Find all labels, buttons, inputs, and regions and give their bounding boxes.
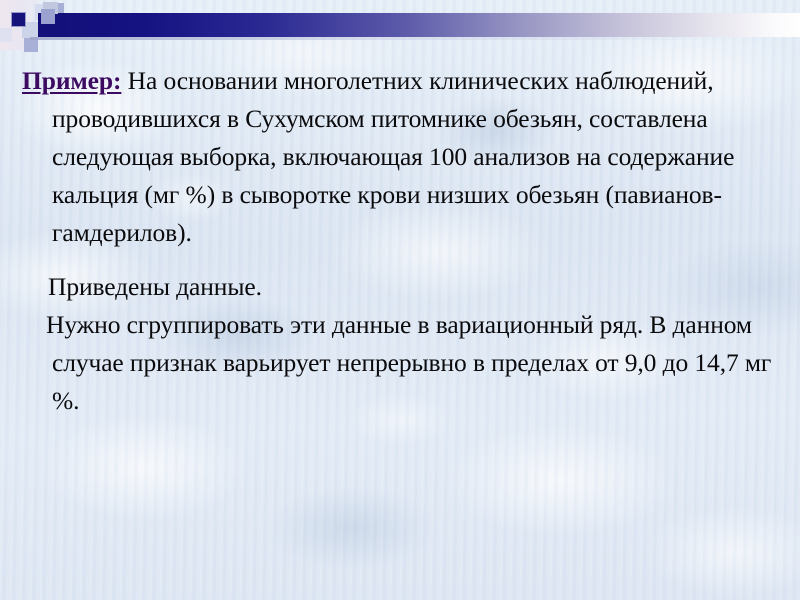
slide-body: Пример: На основании многолетних клиниче… xyxy=(0,62,800,420)
example-body-text: На основании многолетних клинических наб… xyxy=(52,66,734,247)
slide-canvas: Пример: На основании многолетних клиниче… xyxy=(0,0,800,600)
title-accent-bar xyxy=(38,13,800,37)
example-paragraph: Пример: На основании многолетних клиниче… xyxy=(0,62,800,252)
medium-square-b-icon xyxy=(41,9,55,24)
paragraph-spacer xyxy=(0,256,800,268)
example-label: Пример: xyxy=(22,66,121,95)
medium-square-c-icon xyxy=(24,38,38,52)
data-note-paragraph: Приведены данные. xyxy=(0,268,800,306)
task-paragraph: Нужно сгруппировать эти данные в вариаци… xyxy=(0,306,800,420)
title-accent-bar-shadow xyxy=(30,37,800,40)
pale-square-edge-icon xyxy=(0,28,12,42)
navy-square-icon xyxy=(11,12,26,27)
header-decoration xyxy=(0,0,800,56)
